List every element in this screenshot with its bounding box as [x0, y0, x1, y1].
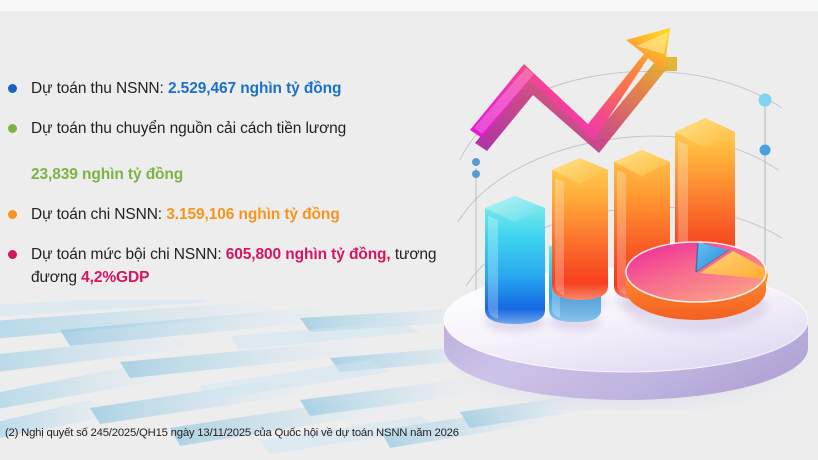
bullet-list: Dự toán thu NSNN: 2.529,467 nghìn tỷ đồn…	[8, 78, 438, 307]
bullet-dot-icon	[8, 84, 17, 93]
bullet-dot-icon	[8, 250, 17, 259]
upward-zigzag-arrow	[470, 28, 677, 153]
accent-dot-right-lower	[760, 145, 771, 156]
accent-dot-left-upper	[472, 158, 480, 166]
bar-cyan-1	[485, 196, 545, 332]
bullet-value: 23,839 nghìn tỷ đồng	[31, 166, 183, 183]
bullet-label: Dự toán thu chuyển nguồn cải cách tiền l…	[31, 120, 346, 137]
bullet-text: Dự toán thu NSNN: 2.529,467 nghìn tỷ đồn…	[31, 78, 341, 101]
bullet-value: 605,800 nghìn tỷ đồng,	[226, 246, 391, 263]
list-item: Dự toán thu NSNN: 2.529,467 nghìn tỷ đồn…	[8, 78, 438, 101]
bullet-text: Dự toán thu chuyển nguồn cải cách tiền l…	[31, 118, 346, 187]
3d-pie-chart	[624, 242, 768, 332]
bullet-dot-icon	[8, 124, 17, 133]
list-item: Dự toán thu chuyển nguồn cải cách tiền l…	[8, 118, 438, 187]
bullet-label: Dự toán mức bội chi NSNN:	[31, 246, 222, 263]
accent-dot-left-lower	[472, 170, 480, 178]
bullet-value: 3.159,106 nghìn tỷ đồng	[166, 206, 339, 223]
bullet-text: Dự toán mức bội chi NSNN: 605,800 nghìn …	[31, 244, 438, 290]
list-item: Dự toán mức bội chi NSNN: 605,800 nghìn …	[8, 244, 438, 290]
accent-dot-right-upper	[759, 94, 772, 107]
bullet-tail-value: 4,2%GDP	[81, 269, 149, 286]
bar-orange-1	[552, 158, 608, 311]
bullet-dot-icon	[8, 210, 17, 219]
footnote: (2) Nghị quyết số 245/2025/QH15 ngày 13/…	[5, 427, 459, 439]
bullet-text: Dự toán chi NSNN: 3.159,106 nghìn tỷ đồn…	[31, 204, 340, 227]
bullet-label: Dự toán thu NSNN:	[31, 80, 164, 97]
list-item: Dự toán chi NSNN: 3.159,106 nghìn tỷ đồn…	[8, 204, 438, 227]
bullet-value: 2.529,467 nghìn tỷ đồng	[168, 80, 341, 97]
bullet-label: Dự toán chi NSNN:	[31, 206, 162, 223]
3d-growth-chart-illustration	[430, 10, 818, 410]
slide-canvas: Dự toán thu NSNN: 2.529,467 nghìn tỷ đồn…	[0, 0, 818, 460]
